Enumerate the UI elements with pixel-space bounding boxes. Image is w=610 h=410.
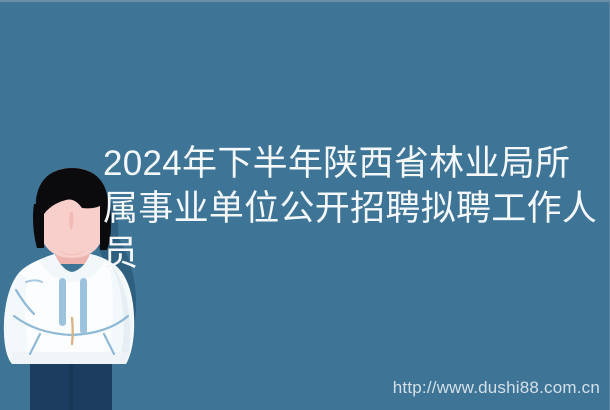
source-url-watermark: http://www.dushi88.com.cn	[393, 378, 600, 398]
promo-banner: 2024年下半年陕西省林业局所属事业单位公开招聘拟聘工作人员 http://ww…	[0, 0, 610, 410]
headline-text: 2024年下半年陕西省林业局所属事业单位公开招聘拟聘工作人员	[103, 141, 603, 276]
